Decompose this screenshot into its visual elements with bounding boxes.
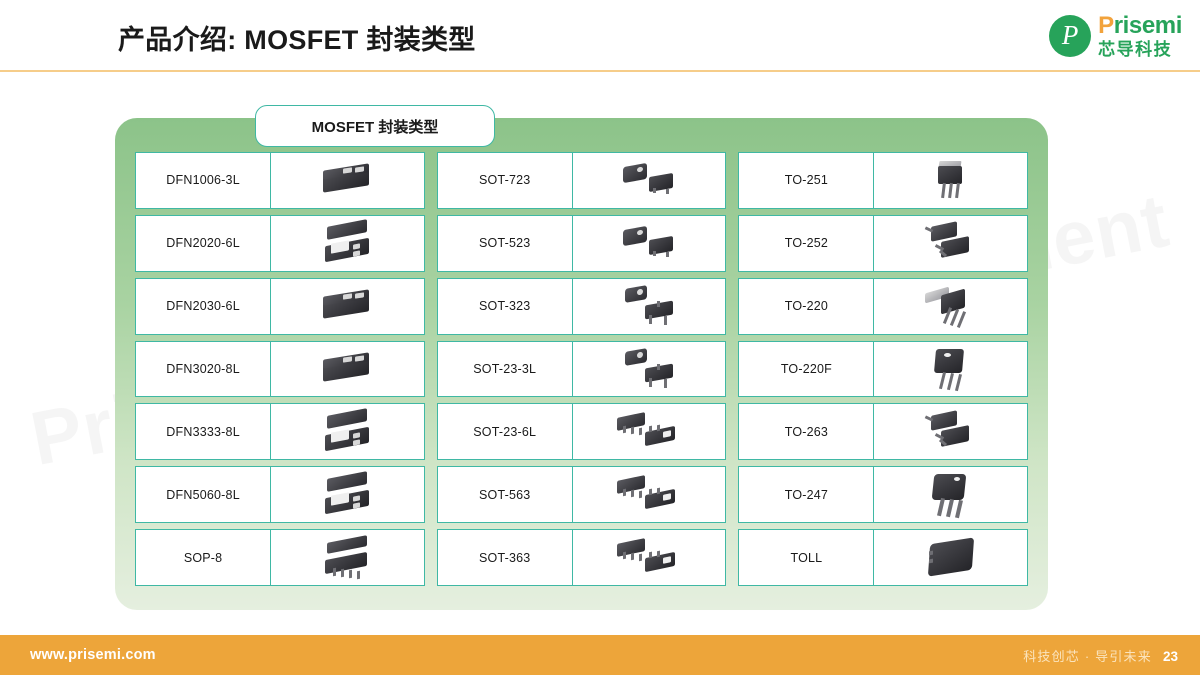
package-name-cell: DFN5060-8L bbox=[135, 466, 271, 523]
package-name-cell: SOP-8 bbox=[135, 529, 271, 586]
package-image-cell bbox=[271, 529, 425, 586]
package-sot-3lead-icon bbox=[611, 346, 687, 392]
table-row[interactable]: SOT-563 bbox=[437, 466, 727, 523]
package-name-cell: SOT-23-6L bbox=[437, 403, 573, 460]
package-sot-6lead-icon bbox=[611, 409, 687, 455]
logo-circle-icon: P bbox=[1049, 15, 1091, 57]
table-row[interactable]: SOT-23-3L bbox=[437, 341, 727, 398]
package-name-cell: TO-263 bbox=[738, 403, 874, 460]
package-image-cell bbox=[271, 341, 425, 398]
package-name-cell: TO-252 bbox=[738, 215, 874, 272]
package-name-cell: TOLL bbox=[738, 529, 874, 586]
package-sot-6lead-icon bbox=[611, 535, 687, 581]
package-image-cell bbox=[573, 215, 727, 272]
package-to247-icon bbox=[913, 472, 989, 518]
package-name-cell: SOT-363 bbox=[437, 529, 573, 586]
package-sot-small-icon bbox=[611, 220, 687, 266]
package-dfn-single-icon bbox=[309, 283, 385, 329]
package-image-cell bbox=[874, 152, 1028, 209]
package-name-cell: TO-251 bbox=[738, 152, 874, 209]
table-row[interactable]: TO-252 bbox=[738, 215, 1028, 272]
package-image-cell bbox=[874, 529, 1028, 586]
package-image-cell bbox=[573, 403, 727, 460]
package-dfn-exploded-icon bbox=[309, 472, 385, 518]
footer-bar: www.prisemi.com 科技创芯 · 导引未来 23 bbox=[0, 635, 1200, 675]
package-name-cell: SOT-523 bbox=[437, 215, 573, 272]
table-row[interactable]: SOP-8 bbox=[135, 529, 425, 586]
package-sot-3lead-icon bbox=[611, 283, 687, 329]
package-to251-icon bbox=[913, 157, 989, 203]
package-sop-icon bbox=[309, 535, 385, 581]
package-dfn-exploded-icon bbox=[309, 220, 385, 266]
package-toll-icon bbox=[913, 535, 989, 581]
table-heading-pill: MOSFET 封装类型 bbox=[255, 105, 495, 147]
table-row[interactable]: DFN5060-8L bbox=[135, 466, 425, 523]
logo-brand-rest: risemi bbox=[1114, 12, 1182, 39]
package-image-cell bbox=[573, 152, 727, 209]
page-title: 产品介绍: MOSFET 封装类型 bbox=[118, 18, 476, 57]
package-image-cell bbox=[573, 278, 727, 335]
table-row[interactable]: TO-220F bbox=[738, 341, 1028, 398]
package-image-cell bbox=[874, 215, 1028, 272]
table-row[interactable]: SOT-523 bbox=[437, 215, 727, 272]
title-divider bbox=[0, 70, 1200, 72]
package-table-panel: DFN1006-3L DFN2020-6L DFN2030-6L DFN3020… bbox=[115, 118, 1048, 610]
package-image-cell bbox=[271, 403, 425, 460]
package-name-cell: DFN2030-6L bbox=[135, 278, 271, 335]
table-row[interactable]: TOLL bbox=[738, 529, 1028, 586]
table-row[interactable]: SOT-23-6L bbox=[437, 403, 727, 460]
table-row[interactable]: DFN3020-8L bbox=[135, 341, 425, 398]
package-dfn-exploded-icon bbox=[309, 409, 385, 455]
logo-wordmark: Prisemi 芯导科技 bbox=[1098, 14, 1182, 58]
package-dfn-single-icon bbox=[309, 157, 385, 203]
table-row[interactable]: DFN2030-6L bbox=[135, 278, 425, 335]
package-sot-small-icon bbox=[611, 157, 687, 203]
package-image-cell bbox=[874, 403, 1028, 460]
package-table: DFN1006-3L DFN2020-6L DFN2030-6L DFN3020… bbox=[115, 118, 1048, 610]
logo-brand-cn: 芯导科技 bbox=[1098, 41, 1182, 58]
package-image-cell bbox=[874, 278, 1028, 335]
table-row[interactable]: TO-251 bbox=[738, 152, 1028, 209]
package-image-cell bbox=[271, 215, 425, 272]
package-name-cell: SOT-23-3L bbox=[437, 341, 573, 398]
package-image-cell bbox=[874, 466, 1028, 523]
table-row[interactable]: TO-247 bbox=[738, 466, 1028, 523]
package-image-cell bbox=[271, 466, 425, 523]
footer-right-group: 科技创芯 · 导引未来 23 bbox=[1023, 646, 1178, 665]
package-column-1: DFN1006-3L DFN2020-6L DFN2030-6L DFN3020… bbox=[135, 152, 425, 586]
package-column-2: SOT-723 SOT-523 SOT-323 SOT-23-3L bbox=[437, 152, 727, 586]
package-image-cell bbox=[874, 341, 1028, 398]
table-row[interactable]: DFN1006-3L bbox=[135, 152, 425, 209]
table-row[interactable]: SOT-323 bbox=[437, 278, 727, 335]
logo-monogram: P bbox=[1049, 15, 1091, 57]
package-to252-icon bbox=[913, 220, 989, 266]
package-image-cell bbox=[573, 529, 727, 586]
package-sot-6lead-icon bbox=[611, 472, 687, 518]
package-image-cell bbox=[573, 466, 727, 523]
footer-slogan: 科技创芯 · 导引未来 bbox=[1023, 646, 1152, 665]
table-row[interactable]: DFN2020-6L bbox=[135, 215, 425, 272]
package-name-cell: DFN3020-8L bbox=[135, 341, 271, 398]
package-name-cell: SOT-323 bbox=[437, 278, 573, 335]
package-image-cell bbox=[271, 152, 425, 209]
package-dfn-single-icon bbox=[309, 346, 385, 392]
footer-website[interactable]: www.prisemi.com bbox=[30, 647, 156, 663]
table-row[interactable]: DFN3333-8L bbox=[135, 403, 425, 460]
page-number: 23 bbox=[1163, 649, 1178, 664]
logo-brand-en: Prisemi bbox=[1098, 14, 1182, 38]
package-to220f-icon bbox=[913, 346, 989, 392]
package-name-cell: TO-220 bbox=[738, 278, 874, 335]
package-name-cell: SOT-723 bbox=[437, 152, 573, 209]
package-name-cell: TO-247 bbox=[738, 466, 874, 523]
package-to220-icon bbox=[913, 283, 989, 329]
package-image-cell bbox=[573, 341, 727, 398]
package-column-3: TO-251 TO-252 TO-220 TO-220F bbox=[738, 152, 1028, 586]
table-row[interactable]: TO-220 bbox=[738, 278, 1028, 335]
package-to263-icon bbox=[913, 409, 989, 455]
logo-brand-initial: P bbox=[1098, 12, 1114, 39]
package-name-cell: SOT-563 bbox=[437, 466, 573, 523]
package-name-cell: DFN3333-8L bbox=[135, 403, 271, 460]
package-name-cell: TO-220F bbox=[738, 341, 874, 398]
package-name-cell: DFN2020-6L bbox=[135, 215, 271, 272]
table-row[interactable]: SOT-363 bbox=[437, 529, 727, 586]
table-row[interactable]: SOT-723 bbox=[437, 152, 727, 209]
table-row[interactable]: TO-263 bbox=[738, 403, 1028, 460]
package-name-cell: DFN1006-3L bbox=[135, 152, 271, 209]
brand-logo: P Prisemi 芯导科技 bbox=[1049, 14, 1182, 58]
package-image-cell bbox=[271, 278, 425, 335]
